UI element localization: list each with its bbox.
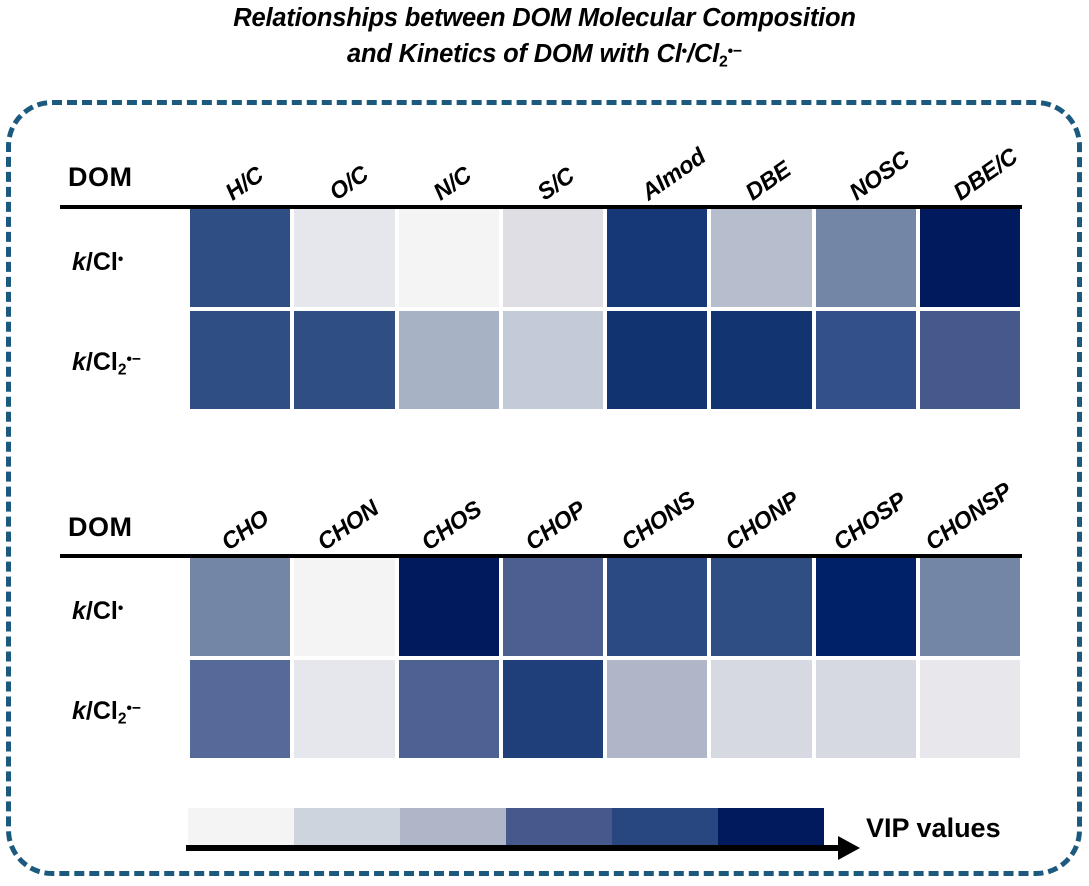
column-header-chos: CHOS: [417, 496, 487, 556]
column-header-chonp: CHONP: [721, 486, 805, 556]
column-header-chosp: CHOSP: [829, 487, 912, 556]
panel-header-formula: DOM CHO CHON CHOS CHOP CHONS CHONP CHOSP…: [60, 490, 1030, 558]
rate-constant-k-4: k: [72, 697, 86, 725]
title-line-1: Relationships between DOM Molecular Comp…: [0, 2, 1089, 35]
heatmap-cell: [816, 209, 916, 307]
dichloride-radical-anion-mark: •−: [728, 43, 742, 60]
colorbar-legend: VIP values: [0, 795, 1089, 875]
radical-anion-mark-1: •−: [126, 351, 140, 368]
title-line-2: and Kinetics of DOM with Cl•/Cl2•−: [0, 35, 1089, 78]
column-header-nosc: NOSC: [845, 146, 915, 206]
heatmap-cell: [711, 311, 811, 409]
column-header-dbec: DBE/C: [949, 143, 1023, 206]
colorbar-swatch: [400, 808, 506, 846]
column-header-chonsp: CHONSP: [921, 477, 1017, 556]
heatmap-cell: [503, 311, 603, 409]
colorbar-swatch: [294, 808, 400, 846]
column-header-oc: O/C: [325, 160, 374, 206]
column-header-sc: S/C: [533, 162, 580, 206]
heatmap-cell: [399, 209, 499, 307]
radical-dot-2: •: [118, 600, 123, 617]
rate-constant-k-1: k: [72, 248, 86, 276]
corner-label-dom-2: DOM: [68, 512, 133, 543]
colorbar-axis-line: [186, 845, 846, 851]
column-header-chons: CHONS: [617, 486, 701, 556]
heatmap-cell: [190, 311, 290, 409]
heatmap-grid-molecular-indices: [190, 209, 1020, 409]
heatmap-grid-formula-classes: [190, 558, 1020, 758]
colorbar-swatch: [718, 808, 824, 846]
row-label-text-3: /Cl: [86, 597, 118, 625]
dichloride-subscript: 2: [719, 53, 728, 70]
row-label-text-1: /Cl: [86, 248, 118, 276]
row-label-k-cl-radical-2: k/Cl•: [72, 597, 184, 626]
heatmap-cell: [920, 209, 1020, 307]
heatmap-cell: [399, 660, 499, 758]
heatmap-cell: [294, 311, 394, 409]
column-header-cho: CHO: [217, 504, 275, 556]
heatmap-cell: [294, 660, 394, 758]
heatmap-cell: [816, 660, 916, 758]
heatmap-cell: [607, 209, 707, 307]
heatmap-cell: [190, 558, 290, 656]
heatmap-cell: [711, 558, 811, 656]
row-label-text-4: /Cl: [86, 697, 118, 725]
corner-label-dom-1: DOM: [68, 162, 133, 193]
heatmap-cell: [711, 660, 811, 758]
heatmap-cell: [607, 660, 707, 758]
column-header-aimod: AImod: [637, 143, 711, 206]
column-header-dbe: DBE: [741, 156, 796, 206]
column-header-chop: CHOP: [521, 496, 591, 556]
heatmap-cell: [920, 311, 1020, 409]
page-title: Relationships between DOM Molecular Comp…: [0, 2, 1089, 78]
radical-dot-1: •: [118, 251, 123, 268]
title-line-2-prefix: and Kinetics of DOM with Cl: [347, 40, 682, 68]
panel-header-molecular: DOM H/C O/C N/C S/C AImod DBE NOSC DBE/C: [60, 140, 1030, 208]
heatmap-cell: [920, 660, 1020, 758]
rate-constant-k-2: k: [72, 348, 86, 376]
heatmap-cell: [294, 558, 394, 656]
row-label-text-2: /Cl: [86, 348, 118, 376]
heatmap-cell: [190, 660, 290, 758]
column-header-chon: CHON: [313, 495, 384, 556]
heatmap-cell: [294, 209, 394, 307]
colorbar-swatch: [506, 808, 612, 846]
colorbar-swatches: [188, 808, 824, 846]
heatmap-cell: [190, 209, 290, 307]
heatmap-cell: [503, 660, 603, 758]
heatmap-cell: [607, 311, 707, 409]
colorbar-swatch: [612, 808, 718, 846]
colorbar-swatch: [188, 808, 294, 846]
heatmap-cell: [816, 311, 916, 409]
heatmap-cell: [711, 209, 811, 307]
heatmap-cell: [399, 558, 499, 656]
heatmap-cell: [607, 558, 707, 656]
heatmap-cell: [503, 558, 603, 656]
row-label-k-cl2-radical-anion-2: k/Cl2•−: [72, 697, 184, 728]
heatmap-cell: [920, 558, 1020, 656]
column-header-nc: N/C: [429, 161, 477, 206]
title-line-2-mid: /Cl: [687, 40, 719, 68]
heatmap-cell: [816, 558, 916, 656]
row-label-k-cl-radical-1: k/Cl•: [72, 248, 184, 277]
column-header-hc: H/C: [221, 161, 269, 206]
row-label-k-cl2-radical-anion-1: k/Cl2•−: [72, 348, 184, 379]
heatmap-cell: [399, 311, 499, 409]
arrow-right-icon: [838, 836, 860, 860]
radical-anion-mark-2: •−: [126, 700, 140, 717]
colorbar-label: VIP values: [866, 813, 1001, 844]
heatmap-cell: [503, 209, 603, 307]
rate-constant-k-3: k: [72, 597, 86, 625]
